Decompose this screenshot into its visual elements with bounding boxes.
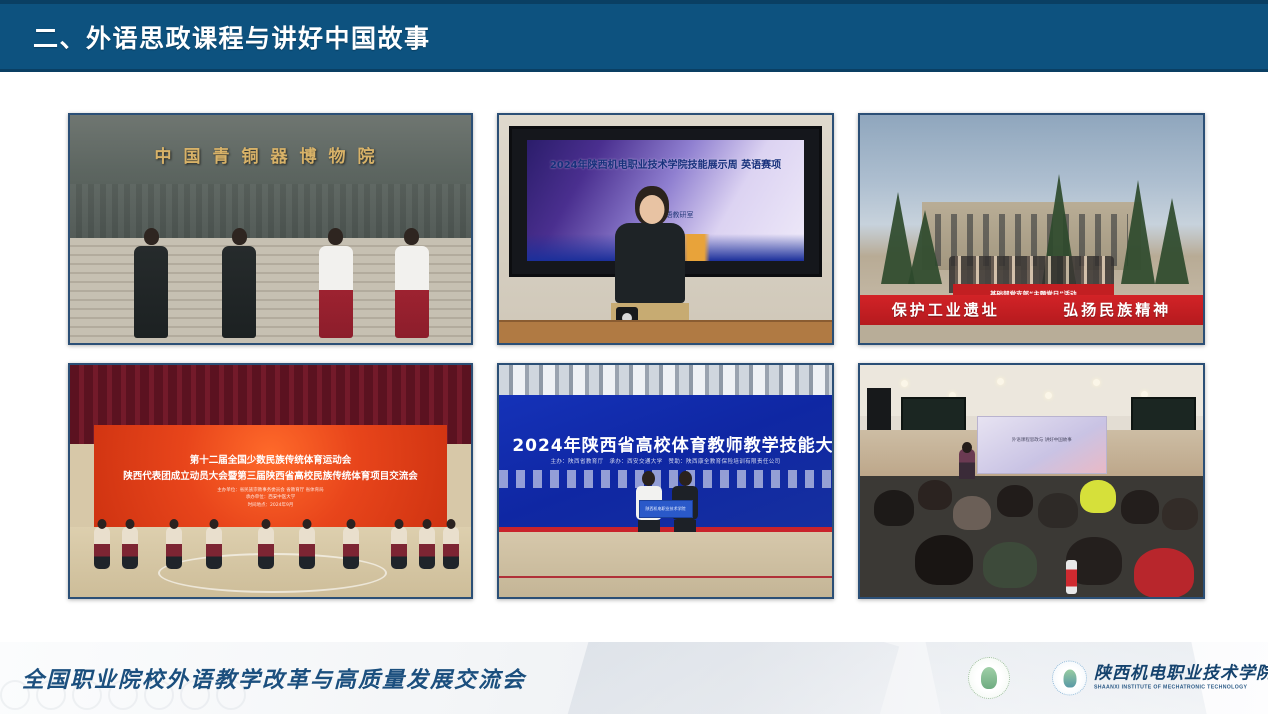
museum-signage-text: 中国青铜器博物院 <box>70 142 471 167</box>
school-name-cn: 陕西机电职业技术学院 <box>1094 665 1268 682</box>
photo-gallery-grid: 中国青铜器博物院 2024年陕西机电职业技术学院技能展示周 英语赛项 基础部英语… <box>68 113 1207 603</box>
dancer-figure <box>94 527 110 569</box>
dancer-figure <box>206 527 222 569</box>
tree-shape <box>1121 180 1155 284</box>
slide-footer-bar: 全国职业院校外语教学改革与高质量发展交流会 陕西机电职业技术学院 SHAANXI… <box>0 642 1268 714</box>
slide-body: 中国青铜器博物院 2024年陕西机电职业技术学院技能展示周 英语赛项 基础部英语… <box>0 72 1268 642</box>
school-logo: 陕西机电职业技术学院 SHAANXI INSTITUTE OF MECHATRO… <box>1052 661 1268 696</box>
audience-head <box>874 490 914 526</box>
tree-shape <box>908 210 942 284</box>
person-figure <box>395 228 429 338</box>
audience-head <box>953 496 991 530</box>
backdrop-title-text: 2024年陕西省高校体育教师教学技能大赛 <box>512 431 818 456</box>
slogan-left-text: 保护工业遗址 <box>892 299 1000 320</box>
dancer-figure <box>122 527 138 569</box>
wall-speaker <box>867 388 891 434</box>
ground-plaza <box>860 325 1203 343</box>
slide-header-bar: 二、外语思政课程与讲好中国故事 <box>0 0 1268 72</box>
projection-text: 外语课程思政与 讲好中国故事 <box>988 437 1096 446</box>
page-title: 二、外语思政课程与讲好中国故事 <box>33 19 431 55</box>
photo-ethnic-sports-games[interactable]: 第十二届全国少数民族传统体育运动会 陕西代表团成立动员大会暨第三届陕西省高校民族… <box>68 363 473 599</box>
tree-shape <box>1155 198 1189 284</box>
person-figure <box>319 228 353 338</box>
audience-head <box>918 480 952 510</box>
water-bottle <box>1066 560 1077 594</box>
photo-english-contest[interactable]: 2024年陕西机电职业技术学院技能展示周 英语赛项 基础部英语教研室 <box>497 113 834 345</box>
dancer-figure <box>166 527 182 569</box>
dancer-figure <box>258 527 274 569</box>
slogan-banner: 保护工业遗址 弘扬民族精神 <box>860 295 1203 325</box>
photo-lecture-hall[interactable]: 外语课程思政与 讲好中国故事 <box>858 363 1205 599</box>
slogan-right-text: 弘扬民族精神 <box>1063 299 1171 320</box>
audience-head <box>915 535 973 585</box>
led-backdrop: 第十二届全国少数民族传统体育运动会 陕西代表团成立动员大会暨第三届陕西省高校民族… <box>94 425 447 527</box>
court-floor <box>499 532 832 597</box>
audience-head <box>1038 493 1078 528</box>
handheld-sign: 陕西机电职业技术学院 <box>639 500 693 518</box>
dancer-figure <box>343 527 359 569</box>
dancer-figure <box>391 527 407 569</box>
audience-head <box>1121 490 1159 524</box>
audience-seating <box>860 467 1203 597</box>
person-figure <box>134 228 168 338</box>
led-title-line2: 陕西代表团成立动员大会暨第三届陕西省高校民族传统体育项目交流会 <box>101 468 440 482</box>
led-organizer-text: 主办单位：省民族宗教事务委员会 省教育厅 省体育局 承办单位：西安中医大学 时间… <box>129 487 411 510</box>
dancer-figure <box>299 527 315 569</box>
gym-ceiling-windows <box>499 365 832 395</box>
led-title-line1: 第十二届全国少数民族传统体育运动会 <box>108 452 433 466</box>
conference-emblem-icon <box>968 657 1010 699</box>
school-emblem-icon <box>1052 661 1087 696</box>
photo-pe-teaching-contest[interactable]: 2024年陕西省高校体育教师教学技能大赛 主办：陕西省教育厅 承办：西安交通大学… <box>497 363 834 599</box>
photo-party-day-activity[interactable]: 基础部党支部“主题党日”活动 保护工业遗址 弘扬民族精神 <box>858 113 1205 345</box>
screen-title-text: 2024年陕西机电职业技术学院技能展示周 英语赛项 <box>544 159 787 174</box>
audience-head <box>983 542 1037 588</box>
photo-bronze-museum[interactable]: 中国青铜器博物院 <box>68 113 473 345</box>
audience-head <box>997 485 1033 517</box>
conference-title: 全国职业院校外语教学改革与高质量发展交流会 <box>22 662 526 694</box>
person-figure <box>222 228 256 338</box>
dancer-figure <box>419 527 435 569</box>
lectern-desk <box>499 320 832 343</box>
school-name-en: SHAANXI INSTITUTE OF MECHATRONIC TECHNOL… <box>1094 685 1268 690</box>
backdrop-skyline-graphic <box>499 470 832 488</box>
museum-wall <box>70 115 471 238</box>
audience-head <box>1134 548 1194 598</box>
projection-screen: 外语课程思政与 讲好中国故事 <box>977 416 1107 474</box>
audience-head <box>1162 498 1198 530</box>
backdrop-subtitle-text: 主办：陕西省教育厅 承办：西安交通大学 赞助：陕西康全教育保险培训有限责任公司 <box>532 457 798 465</box>
audience-head <box>1080 480 1116 513</box>
dancer-figure <box>443 527 459 569</box>
